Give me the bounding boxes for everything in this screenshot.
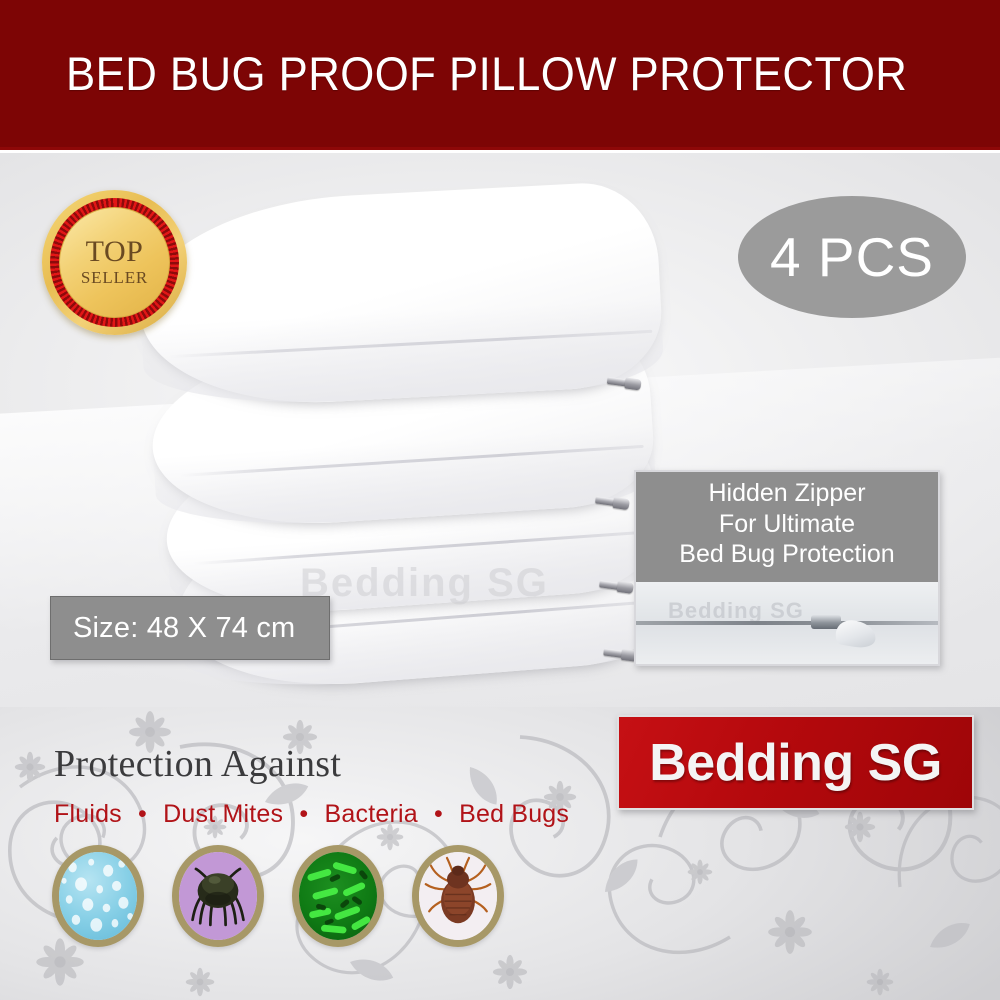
bed-bug-icon	[412, 845, 504, 947]
brand-logo-text: Bedding SG	[649, 733, 942, 793]
water-droplets-icon	[52, 845, 144, 947]
badge-top-label: TOP	[86, 237, 144, 267]
brand-logo: Bedding SG	[617, 715, 974, 810]
zipper-photo-watermark: Bedding SG	[668, 598, 804, 624]
badge-inner-disc: TOP SELLER	[59, 207, 170, 318]
zipper-closeup-photo: Bedding SG	[636, 582, 938, 664]
hidden-zipper-inset: Hidden Zipper For Ultimate Bed Bug Prote…	[634, 470, 940, 666]
top-seller-badge: TOP SELLER	[42, 190, 187, 335]
quantity-badge: 4 PCS	[738, 196, 966, 318]
protection-item-bacteria: Bacteria	[325, 800, 418, 828]
water-droplets-glyph	[59, 852, 137, 938]
pillow-protector-1	[135, 180, 665, 412]
bullet-separator-icon: •	[425, 800, 452, 828]
hidden-zipper-line-2: For Ultimate	[636, 509, 938, 540]
hidden-zipper-line-3: Bed Bug Protection	[636, 539, 938, 570]
bacteria-icon	[292, 845, 384, 947]
bullet-separator-icon: •	[129, 800, 156, 828]
bullet-separator-icon: •	[290, 800, 317, 828]
page-title: BED BUG PROOF PILLOW PROTECTOR	[66, 50, 907, 97]
badge-seller-label: SELLER	[81, 267, 148, 288]
protection-item-fluids: Fluids	[54, 800, 122, 828]
product-advertisement-image: BED BUG PROOF PILLOW PROTECTOR	[0, 0, 1000, 1000]
protection-item-bed-bugs: Bed Bugs	[459, 800, 569, 828]
size-label: Size: 48 X 74 cm	[50, 596, 330, 660]
protection-items-list: Fluids • Dust Mites • Bacteria • Bed Bug…	[54, 800, 569, 829]
bed-bug-glyph	[419, 852, 497, 938]
quantity-badge-label: 4 PCS	[770, 225, 934, 289]
dust-mite-glyph	[179, 852, 257, 938]
protection-item-dust-mites: Dust Mites	[163, 800, 283, 828]
hidden-zipper-line-1: Hidden Zipper	[636, 478, 938, 509]
protection-title: Protection Against	[54, 742, 341, 786]
dust-mite-icon	[172, 845, 264, 947]
header-banner: BED BUG PROOF PILLOW PROTECTOR	[0, 0, 1000, 150]
zipper-track	[636, 621, 938, 625]
product-stage: Bedding SG TOP SELLER 4 PCS Size: 48 X 7…	[0, 153, 1000, 707]
size-label-text: Size: 48 X 74 cm	[73, 612, 295, 645]
protection-icon-row	[0, 845, 620, 955]
bacteria-glyph	[299, 852, 377, 938]
hidden-zipper-caption: Hidden Zipper For Ultimate Bed Bug Prote…	[636, 478, 938, 570]
